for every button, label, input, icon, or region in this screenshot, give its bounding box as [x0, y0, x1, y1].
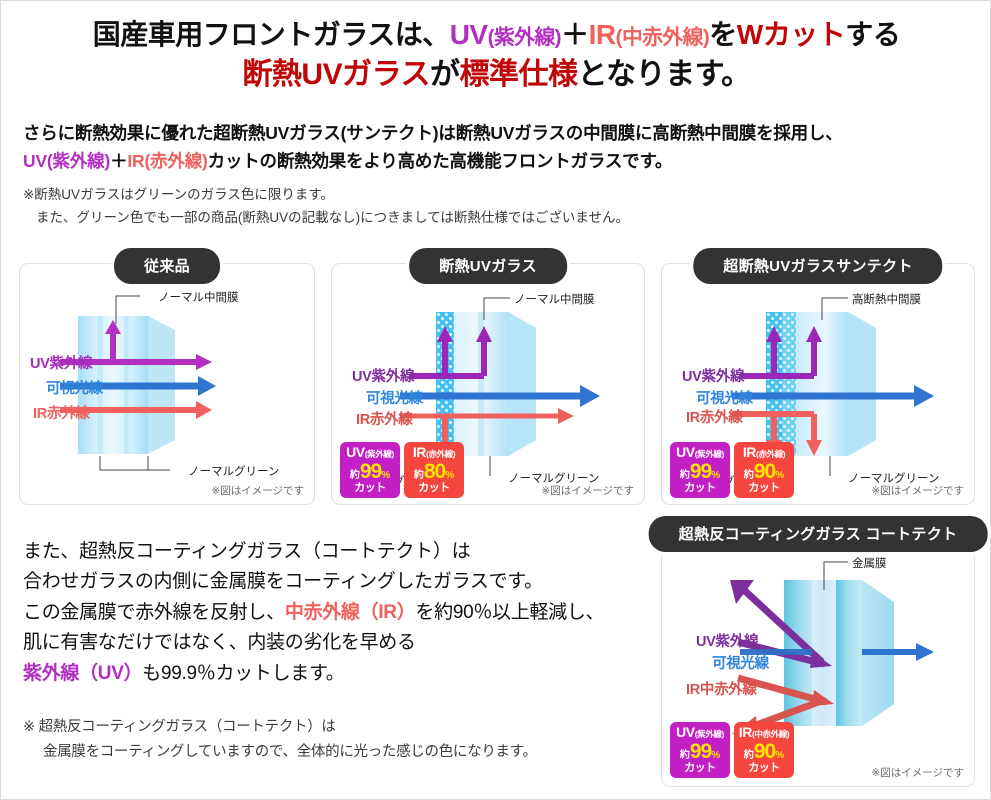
panel-uvcut: 断熱UVガラス	[331, 263, 645, 505]
badge-ir-approx: 約	[744, 750, 754, 761]
panel-uvcut-badges: UV(紫外線) 約99% カット IR(赤外線) 約80% カット	[340, 442, 464, 498]
badge-uv-number: 99	[360, 460, 381, 483]
coatect-description-line-5: 紫外線（UV）も99.9％カットします。	[23, 659, 643, 689]
text-run: (紫外線)	[488, 26, 561, 49]
badge-uv-percent: %	[711, 750, 720, 761]
badge-uv: UV(紫外線) 約99% カット	[670, 442, 730, 498]
coatect-description-line-4: 肌に有害なだけではなく、内装の劣化を早める	[23, 628, 643, 658]
badge-ir-percent: %	[445, 470, 454, 481]
panel-uvcut-title: 断熱UVガラス	[409, 248, 567, 284]
badge-uv-paren: (紫外線)	[695, 449, 724, 459]
badge-ir-label: IR	[743, 444, 756, 460]
panel-conventional-image-note: ※図はイメージです	[211, 483, 304, 498]
text-run: ＋	[561, 19, 589, 50]
text-run: 中赤外線（IR）	[285, 602, 416, 623]
panel-suntect-title: 超断熱UVガラスサンテクト	[693, 248, 942, 284]
badge-ir-number: 80	[424, 460, 445, 483]
text-run: が	[430, 58, 460, 91]
ray-label-visible: 可視光線	[46, 377, 103, 398]
text-run: ＋	[110, 151, 127, 171]
panel-conventional-title: 従来品	[114, 248, 220, 284]
text-run: (中赤外線)	[616, 26, 710, 49]
text-run: 断熱UVガラス	[242, 58, 430, 91]
badge-ir: IR(赤外線) 約90% カット	[734, 442, 794, 498]
callout-interlayer: ノーマル中間膜	[158, 289, 239, 305]
badge-uv-approx: 約	[680, 470, 690, 481]
badge-uv-label: UV	[676, 724, 695, 740]
badge-ir-label: IR	[739, 724, 752, 740]
badge-ir-cut: カット	[734, 483, 794, 494]
ray-label-ir: IR赤外線	[356, 408, 413, 429]
panel-conventional: 従来品	[19, 263, 315, 505]
headline-line-1: 国産車用フロントガラスは、UV(紫外線)＋IR(中赤外線)をWカットする	[1, 17, 991, 53]
coatect-description: また、超熱反コーティングガラス（コートテクト）は 合わせガラスの内側に金属膜をコ…	[23, 537, 643, 689]
callout-interlayer: ノーマル中間膜	[514, 291, 595, 307]
ray-label-ir-mid: IR中赤外線	[686, 678, 757, 699]
text-run: また、超熱反コーティングガラス（コートテクト）は	[23, 541, 470, 562]
badge-ir: IR(赤外線) 約80% カット	[404, 442, 464, 498]
coatect-description-line-2: 合わせガラスの内側に金属膜をコーティングしたガラスです。	[23, 567, 643, 597]
badge-ir-number: 90	[754, 740, 775, 763]
badge-ir-paren: (中赤外線)	[752, 729, 789, 739]
badge-uv-percent: %	[381, 470, 390, 481]
top-disclaimer-line-2: また、グリーン色でも一部の商品(断熱UVの記載なし)につきましては断熱仕様ではご…	[23, 206, 973, 229]
badge-uv-percent: %	[711, 470, 720, 481]
text-run: を	[709, 19, 737, 50]
text-run: さらに断熱効果に優れた超断熱UVガラス(サンテクト)は断熱UVガラスの中間膜に高…	[23, 123, 843, 143]
badge-uv-cut: カット	[670, 483, 730, 494]
bottom-disclaimer-line-1: ※ 超熱反コーティングガラス（コートテクト）は	[23, 715, 643, 740]
text-run: 標準仕様	[459, 58, 577, 91]
badge-uv: UV(紫外線) 約99% カット	[340, 442, 400, 498]
badge-ir-percent: %	[775, 750, 784, 761]
panel-suntect-image-note: ※図はイメージです	[871, 483, 964, 498]
badge-ir-paren: (赤外線)	[756, 449, 785, 459]
text-run: も99.9％カットします。	[142, 663, 344, 684]
panel-uvcut-image-note: ※図はイメージです	[541, 483, 634, 498]
ray-label-uv: UV紫外線	[682, 365, 744, 386]
badge-uv-label: UV	[676, 444, 695, 460]
top-disclaimer-line-1: ※断熱UVガラスはグリーンのガラス色に限ります。	[23, 183, 973, 206]
infographic-page: 国産車用フロントガラスは、UV(紫外線)＋IR(中赤外線)をWカットする 断熱U…	[0, 0, 991, 800]
ray-label-ir: IR赤外線	[686, 406, 743, 427]
callout-high-interlayer: 高断熱中間膜	[852, 291, 921, 307]
badge-ir-cut: カット	[734, 763, 794, 774]
text-run: Wカット	[737, 19, 845, 50]
badge-uv-approx: 約	[680, 750, 690, 761]
text-run: 紫外線（UV）	[23, 663, 142, 684]
panel-suntect-badges: UV(紫外線) 約99% カット IR(赤外線) 約90% カット	[670, 442, 794, 498]
callout-green: ノーマルグリーン	[188, 463, 279, 479]
text-run: 合わせガラスの内側に金属膜をコーティングしたガラスです。	[23, 571, 543, 592]
headline-line-2: 断熱UVガラスが標準仕様となります。	[1, 55, 991, 94]
text-run: IR	[589, 19, 616, 50]
text-run: となります。	[577, 58, 750, 91]
badge-ir: IR(中赤外線) 約90% カット	[734, 722, 794, 778]
badge-uv-cut: カット	[670, 763, 730, 774]
callout-metal-film: 金属膜	[852, 555, 887, 571]
badge-uv-number: 99	[690, 460, 711, 483]
ray-label-visible: 可視光線	[712, 652, 769, 673]
text-run: UV	[450, 19, 488, 50]
badge-ir-percent: %	[775, 470, 784, 481]
text-run: この金属膜で赤外線を反射し、	[23, 602, 285, 623]
text-run: する	[845, 19, 900, 50]
panel-coatect-title: 超熱反コーティングガラス コートテクト	[649, 516, 988, 552]
intro-paragraph: さらに断熱効果に優れた超断熱UVガラス(サンテクト)は断熱UVガラスの中間膜に高…	[23, 119, 973, 176]
badge-ir-approx: 約	[744, 470, 754, 481]
intro-paragraph-line-1: さらに断熱効果に優れた超断熱UVガラス(サンテクト)は断熱UVガラスの中間膜に高…	[23, 119, 973, 147]
text-run: IR(赤外線)	[127, 151, 207, 171]
text-run: 肌に有害なだけではなく、内装の劣化を早める	[23, 632, 416, 653]
badge-ir-cut: カット	[404, 483, 464, 494]
text-run: カットの断熱効果をより高めた高機能フロントガラスです。	[208, 151, 673, 171]
badge-ir-label: IR	[413, 444, 426, 460]
badge-uv-paren: (紫外線)	[695, 729, 724, 739]
panel-suntect: 超断熱UVガラスサンテクト	[661, 263, 975, 505]
panel-coatect-image-note: ※図はイメージです	[871, 765, 964, 780]
ray-label-visible: 可視光線	[696, 387, 753, 408]
badge-uv-label: UV	[346, 444, 365, 460]
coatect-description-line-3: この金属膜で赤外線を反射し、中赤外線（IR）を約90％以上軽減し、	[23, 598, 643, 628]
badge-uv-approx: 約	[350, 470, 360, 481]
coatect-description-line-1: また、超熱反コーティングガラス（コートテクト）は	[23, 537, 643, 567]
panel-coatect: 超熱反コーティングガラス コートテクト	[661, 531, 975, 787]
ray-label-uv: UV紫外線	[696, 630, 758, 651]
text-run: UV(紫外線)	[23, 151, 110, 171]
bottom-disclaimer: ※ 超熱反コーティングガラス（コートテクト）は 金属膜をコーティングしていますの…	[23, 715, 643, 764]
badge-ir-approx: 約	[414, 470, 424, 481]
ray-label-uv: UV紫外線	[352, 365, 414, 386]
ray-label-uv: UV紫外線	[30, 352, 92, 373]
badge-ir-paren: (赤外線)	[426, 449, 455, 459]
text-run: を約90％以上軽減し、	[415, 602, 604, 623]
panel-coatect-badges: UV(紫外線) 約99% カット IR(中赤外線) 約90% カット	[670, 722, 794, 778]
badge-uv-paren: (紫外線)	[365, 449, 394, 459]
badge-uv: UV(紫外線) 約99% カット	[670, 722, 730, 778]
ray-label-ir: IR赤外線	[33, 402, 90, 423]
badge-uv-number: 99	[690, 740, 711, 763]
top-disclaimer: ※断熱UVガラスはグリーンのガラス色に限ります。 また、グリーン色でも一部の商品…	[23, 183, 973, 229]
headline: 国産車用フロントガラスは、UV(紫外線)＋IR(中赤外線)をWカットする 断熱U…	[1, 17, 991, 94]
badge-ir-number: 90	[754, 460, 775, 483]
badge-uv-cut: カット	[340, 483, 400, 494]
bottom-disclaimer-line-2: 金属膜をコーティングしていますので、全体的に光った感じの色になります。	[23, 740, 643, 765]
ray-label-visible: 可視光線	[366, 387, 423, 408]
text-run: 国産車用フロントガラスは、	[93, 19, 450, 50]
intro-paragraph-line-2: UV(紫外線)＋IR(赤外線)カットの断熱効果をより高めた高機能フロントガラスで…	[23, 147, 973, 175]
